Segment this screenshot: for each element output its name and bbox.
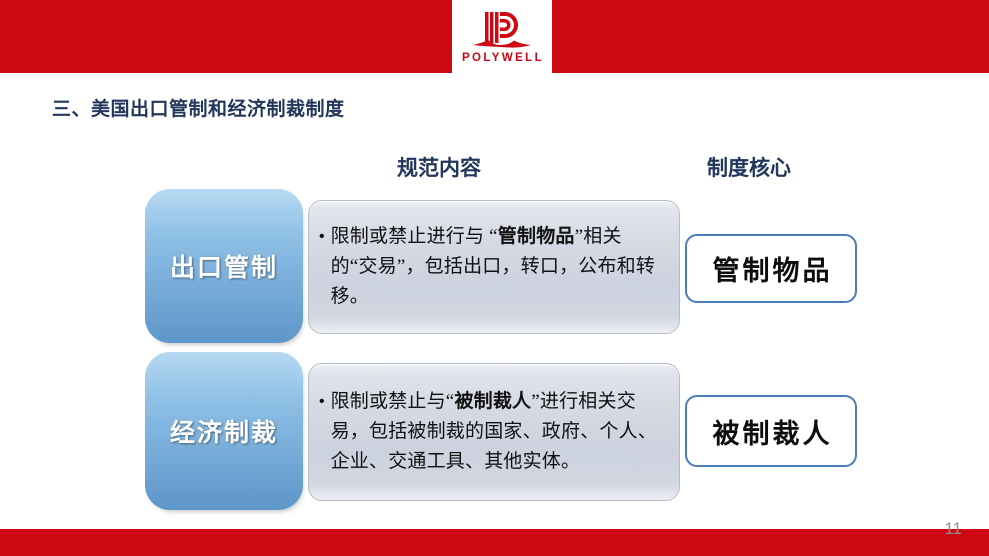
content-text: 限制或禁止与“被制裁人”进行相关交易，包括被制裁的国家、政府、个人、企业、交通工… (331, 387, 665, 477)
category-box-export-control[interactable]: 出口管制 (148, 192, 300, 340)
diagram-row: 出口管制 • 限制或禁止进行与 “管制物品”相关的“交易”，包括出口，转口，公布… (140, 192, 880, 340)
core-label: 被制裁人 (710, 412, 833, 451)
content-box-economic-sanctions: • 限制或禁止与“被制裁人”进行相关交易，包括被制裁的国家、政府、个人、企业、交… (308, 363, 680, 501)
logo-wordmark: POLYWELL (460, 52, 544, 64)
polywell-p-logo-icon (470, 6, 534, 54)
column-header-core: 制度核心 (707, 152, 791, 182)
category-label: 出口管制 (170, 248, 278, 284)
footer-bar (0, 529, 989, 556)
category-box-economic-sanctions[interactable]: 经济制裁 (148, 355, 300, 507)
category-label: 经济制裁 (170, 413, 278, 449)
bullet-item: • 限制或禁止与“被制裁人”进行相关交易，包括被制裁的国家、政府、个人、企业、交… (309, 387, 679, 477)
bullet-marker-icon: • (319, 387, 325, 417)
page-title: 三、美国出口管制和经济制裁制度 (52, 94, 345, 121)
content-text: 限制或禁止进行与 “管制物品”相关的“交易”，包括出口，转口，公布和转移。 (331, 222, 665, 312)
core-box-sanctioned-person[interactable]: 被制裁人 (685, 395, 857, 467)
logo-panel: POLYWELL (452, 0, 552, 78)
core-box-controlled-items[interactable]: 管制物品 (685, 234, 857, 303)
column-header-content: 规范内容 (397, 152, 481, 182)
diagram-row: 经济制裁 • 限制或禁止与“被制裁人”进行相关交易，包括被制裁的国家、政府、个人… (140, 355, 880, 507)
core-label: 管制物品 (710, 249, 833, 288)
content-box-export-control: • 限制或禁止进行与 “管制物品”相关的“交易”，包括出口，转口，公布和转移。 (308, 200, 680, 334)
bullet-marker-icon: • (319, 222, 325, 252)
page-number: 11 (944, 519, 962, 539)
bullet-item: • 限制或禁止进行与 “管制物品”相关的“交易”，包括出口，转口，公布和转移。 (309, 222, 679, 312)
